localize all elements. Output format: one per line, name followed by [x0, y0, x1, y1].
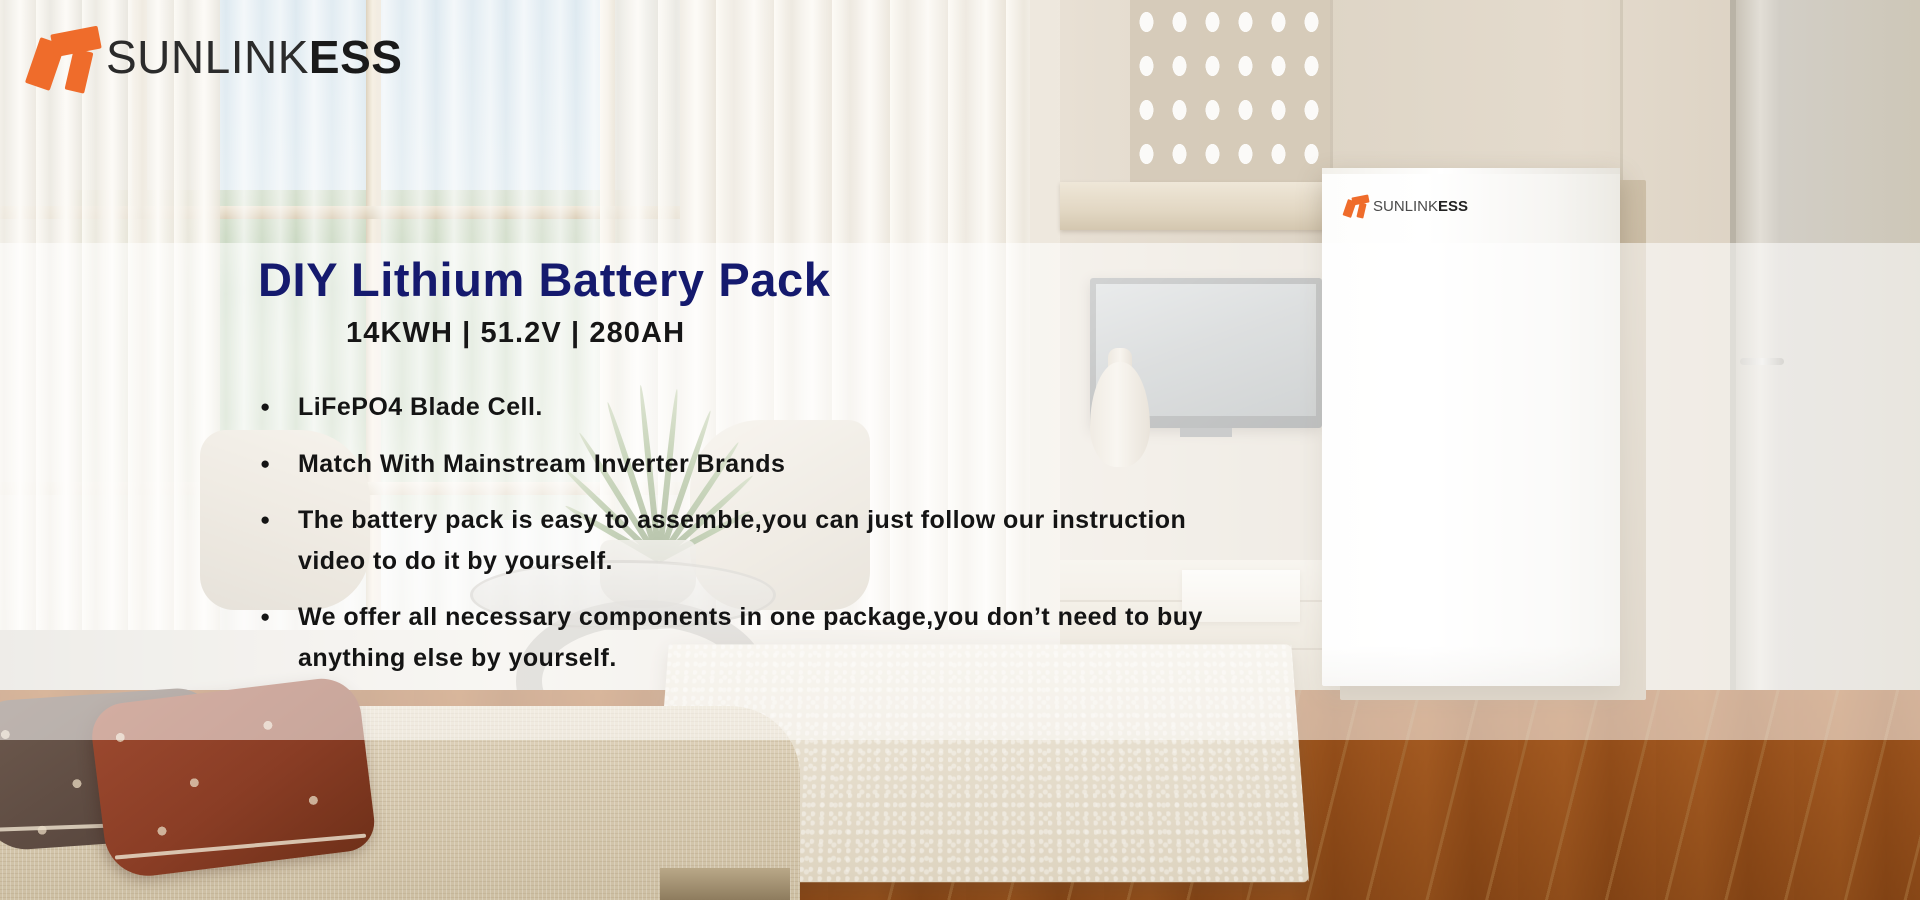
brand-logo: SUNLINKESS	[30, 24, 402, 90]
page-title: DIY Lithium Battery Pack	[258, 243, 1318, 307]
product-banner: SUNLINKESS SUNLINKESS DIY Lithium Batter…	[0, 0, 1920, 900]
battery-bottom-shading	[1322, 646, 1620, 686]
sunlink-mark-icon	[30, 24, 102, 90]
feature-list: LiFePO4 Blade Cell. Match With Mainstrea…	[258, 351, 1318, 678]
bed-frame-rail	[660, 868, 790, 900]
battery-top-edge	[1322, 168, 1620, 174]
perforated-wall-panel	[1130, 0, 1330, 188]
sunlink-mark-icon	[1344, 194, 1370, 218]
battery-brand-logo: SUNLINKESS	[1344, 194, 1468, 218]
brand-name-bold: ESS	[309, 31, 403, 83]
battery-brand-name-light: SUNLINK	[1373, 198, 1438, 215]
brand-wordmark: SUNLINKESS	[106, 34, 402, 80]
door-handle	[1740, 358, 1784, 365]
list-item: We offer all necessary components in one…	[258, 597, 1218, 678]
battery-brand-name-bold: ESS	[1438, 198, 1468, 215]
sheer-curtain-left	[0, 0, 220, 630]
list-item: Match With Mainstream Inverter Brands	[258, 444, 1218, 485]
battery-cabinet-front: SUNLINKESS	[1322, 168, 1620, 686]
product-specs: 14KWH | 51.2V | 280AH	[258, 307, 1318, 351]
battery-cabinet-product: SUNLINKESS	[1322, 168, 1632, 693]
brand-name-light: SUNLINK	[106, 31, 309, 83]
list-item: The battery pack is easy to assemble,you…	[258, 500, 1218, 581]
glass-door	[1730, 0, 1920, 750]
marketing-copy: DIY Lithium Battery Pack 14KWH | 51.2V |…	[258, 243, 1318, 694]
cushion-front	[88, 674, 377, 881]
list-item: LiFePO4 Blade Cell.	[258, 387, 1218, 428]
cushion-floral-pattern	[88, 674, 377, 881]
battery-brand-wordmark: SUNLINKESS	[1373, 199, 1468, 214]
